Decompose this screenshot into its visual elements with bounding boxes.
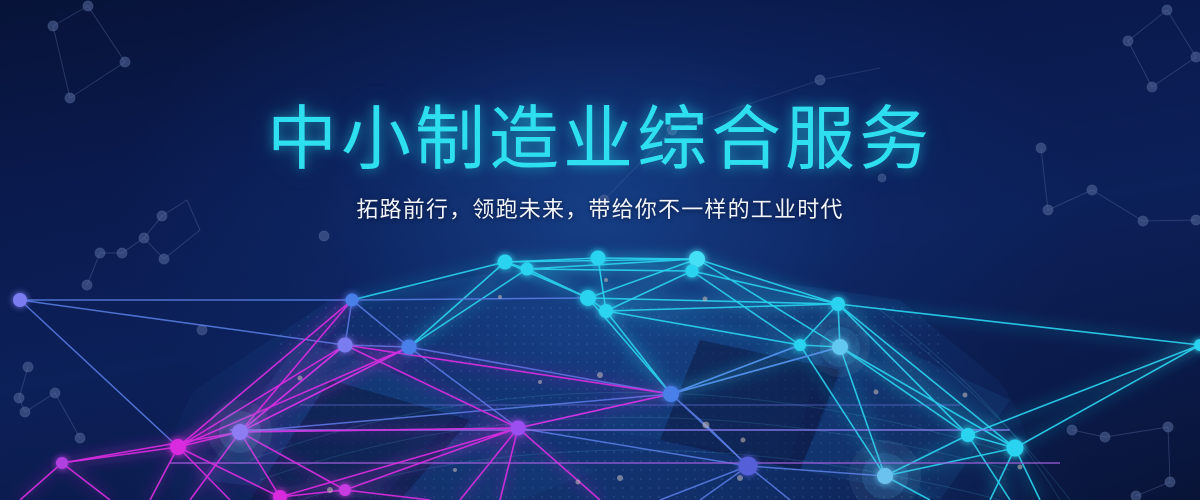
dome-network-layer bbox=[0, 0, 1200, 500]
dome-ring-lines bbox=[170, 405, 1060, 463]
hero-banner: 中小制造业综合服务 拓路前行，领跑未来，带给你不一样的工业时代 bbox=[0, 0, 1200, 500]
dome-edges-magenta bbox=[20, 300, 671, 500]
